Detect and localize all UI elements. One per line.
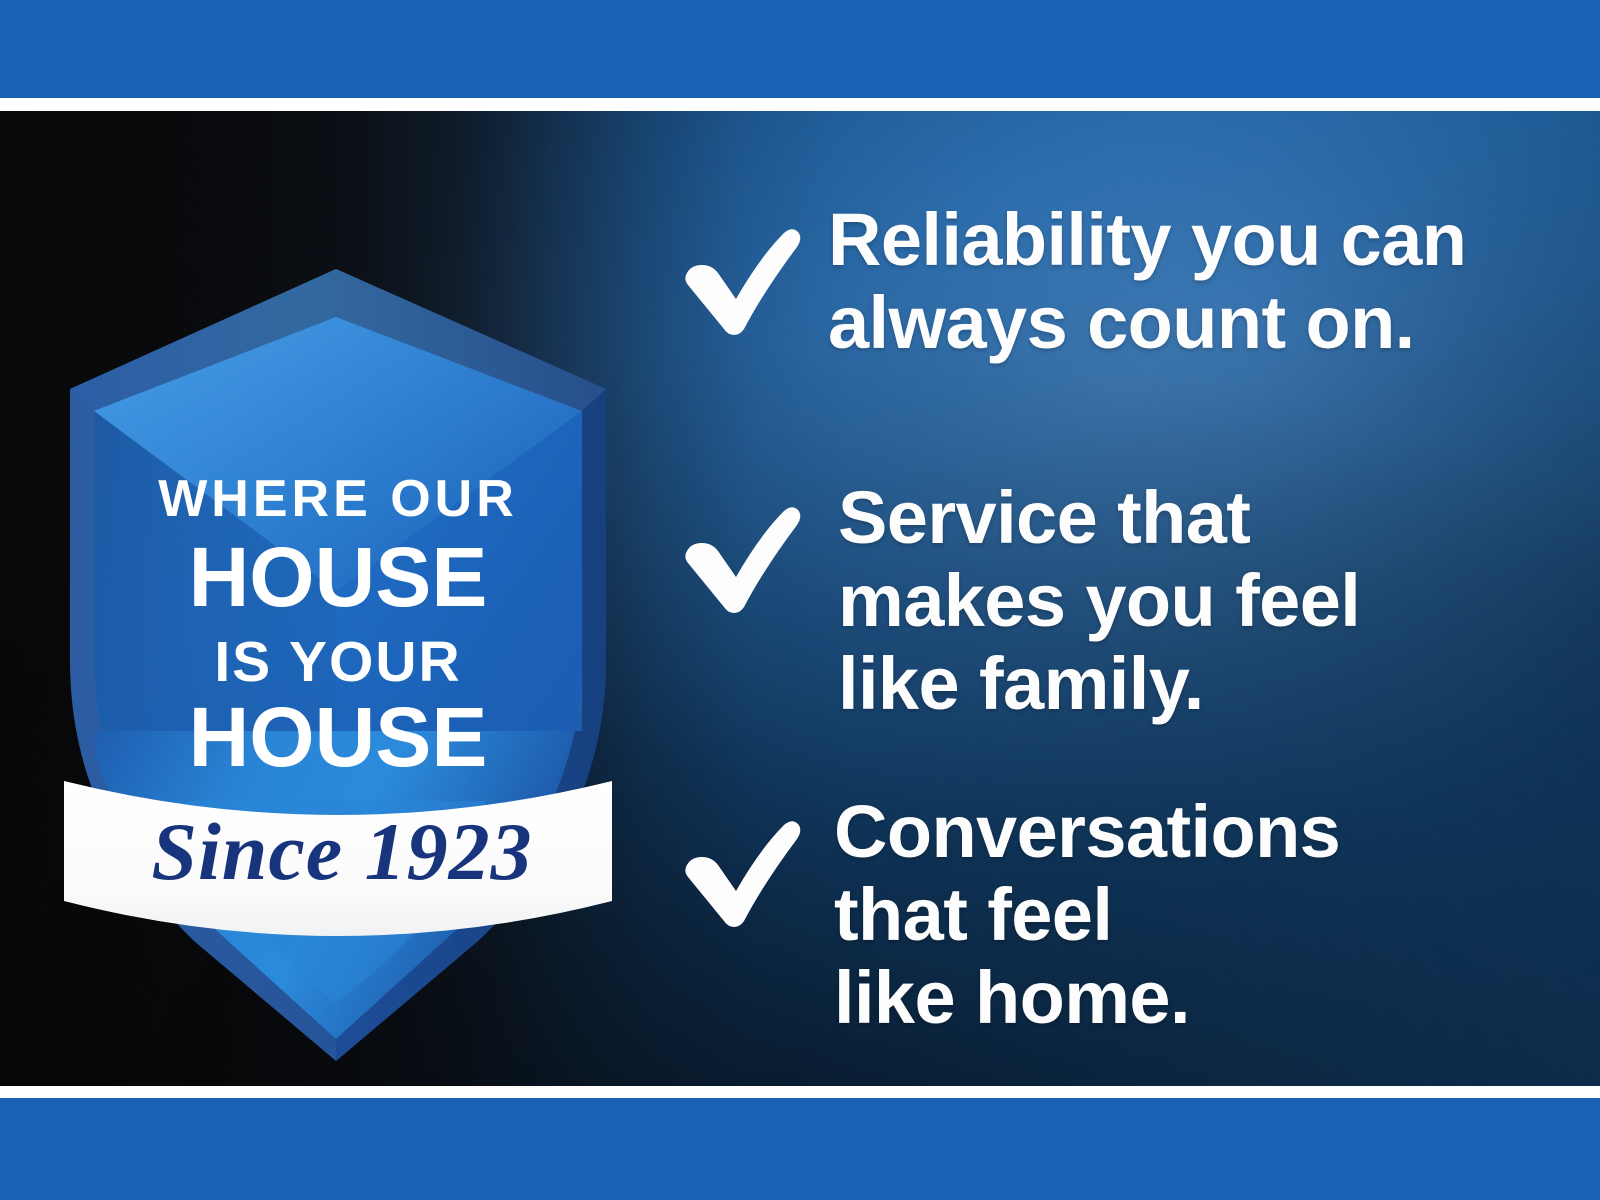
- poster-canvas: WHERE OUR HOUSE IS YOUR HOUSE Since 1923: [0, 111, 1600, 1086]
- shield-emblem: WHERE OUR HOUSE IS YOUR HOUSE Since 1923: [58, 261, 618, 1061]
- checkmark-icon: [672, 809, 804, 927]
- checkmark-icon: [672, 217, 804, 335]
- list-item-label: Conversations that feel like home.: [834, 791, 1340, 1040]
- bottom-brand-bar: [0, 1098, 1600, 1200]
- checkmark-icon: [672, 495, 804, 613]
- promo-poster: WHERE OUR HOUSE IS YOUR HOUSE Since 1923: [0, 0, 1600, 1200]
- shield-line-3: IS YOUR: [214, 630, 461, 694]
- list-item-label: Reliability you can always count on.: [828, 199, 1466, 365]
- shield-line-4: HOUSE: [189, 690, 488, 784]
- shield-line-1: WHERE OUR: [158, 470, 518, 528]
- list-item: Service that makes you feel like family.: [672, 477, 1360, 726]
- list-item: Conversations that feel like home.: [672, 791, 1340, 1040]
- banner-text: Since 1923: [151, 806, 532, 897]
- list-item-label: Service that makes you feel like family.: [838, 477, 1360, 726]
- top-brand-bar: [0, 0, 1600, 98]
- shield-line-2: HOUSE: [189, 530, 488, 624]
- list-item: Reliability you can always count on.: [672, 199, 1466, 365]
